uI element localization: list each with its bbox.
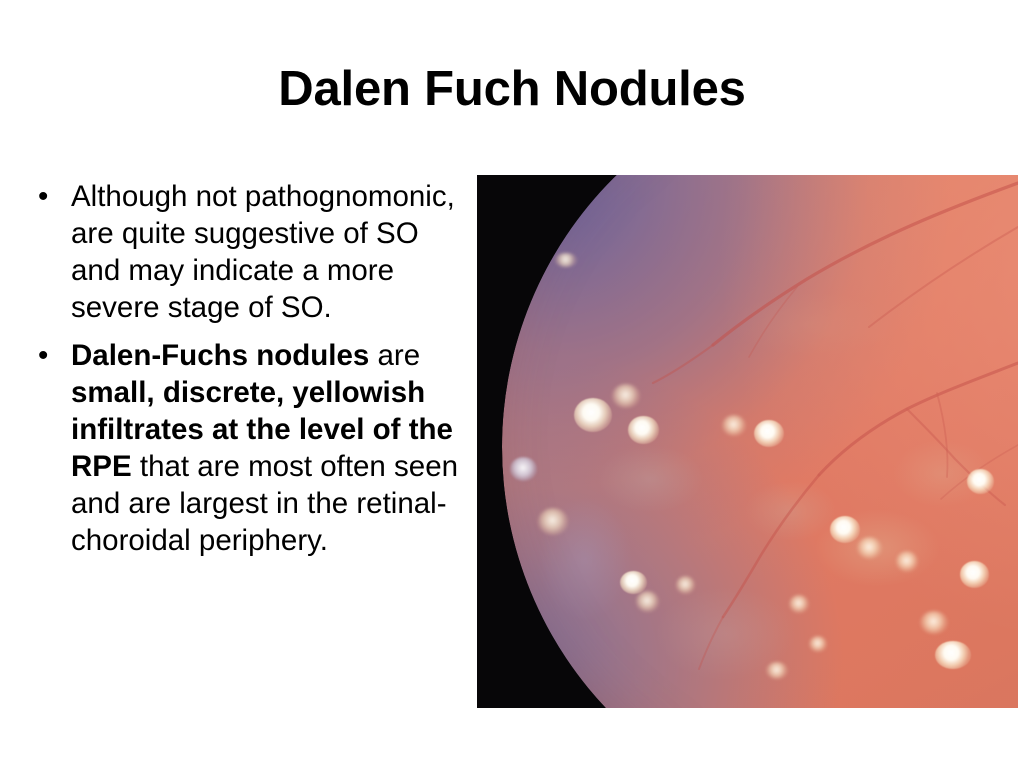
list-item: • Although not pathognomonic, are quite … — [26, 178, 472, 326]
bullet-marker-icon: • — [38, 178, 48, 215]
bullet-1-text: Although not pathognomonic, are quite su… — [71, 180, 455, 324]
list-item: • Dalen-Fuchs nodules are small, discret… — [26, 337, 472, 559]
bullet-marker-icon: • — [38, 337, 48, 374]
text-run: are — [369, 339, 420, 372]
fundus-canvas — [477, 175, 1018, 708]
globe-rim-shading — [502, 175, 1018, 708]
retinal-fundus-photograph — [477, 175, 1018, 708]
text-run: Although not pathognomonic, are quite su… — [71, 180, 455, 324]
bullet-2-text: Dalen-Fuchs nodules are small, discrete,… — [71, 339, 458, 557]
bullet-list: • Although not pathognomonic, are quite … — [26, 178, 472, 561]
page-title: Dalen Fuch Nodules — [0, 58, 1024, 120]
text-run-bold: Dalen-Fuchs nodules — [71, 339, 369, 372]
